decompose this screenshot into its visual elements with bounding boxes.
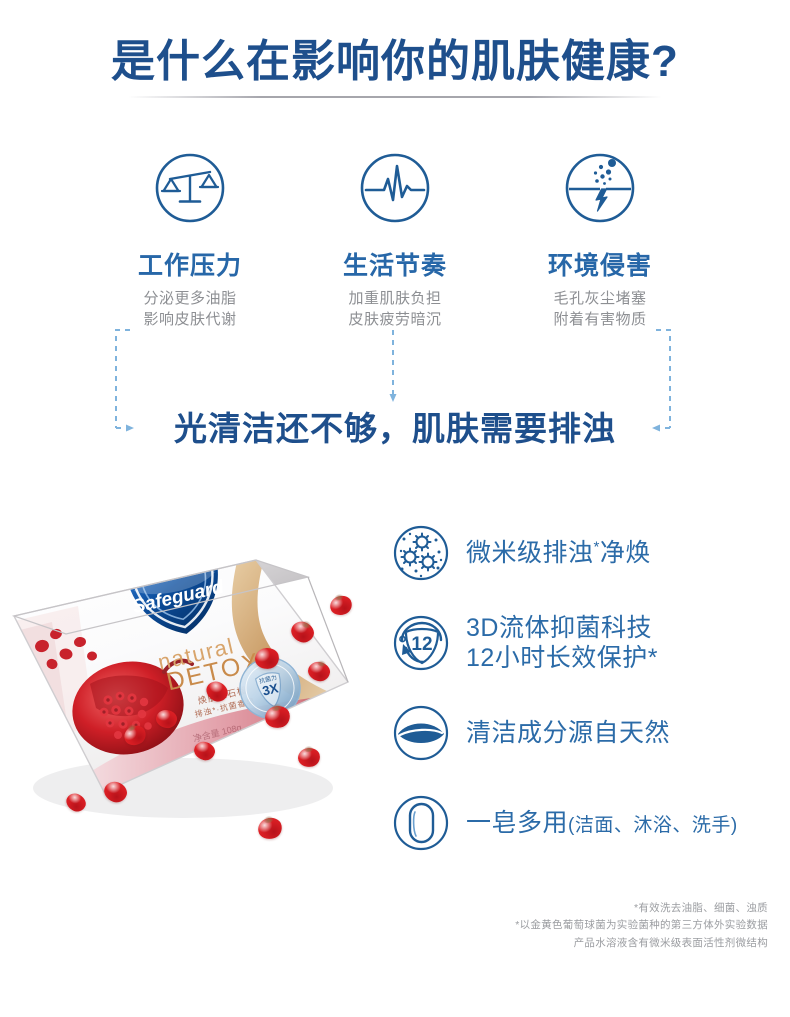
feature-text-main: 微米级排浊 — [466, 539, 594, 567]
cause-description: 毛孔灰尘堵塞 附着有害物质 — [505, 289, 695, 330]
svg-text:™: ™ — [210, 548, 218, 556]
feature-text-line2: 12小时长效保护* — [466, 643, 658, 674]
cause-desc-line: 影响皮肤代谢 — [95, 310, 285, 331]
promo-page: 是什么在影响你的肌肤健康? 工作压力 分泌更多油脂 影响皮肤代谢 — [0, 0, 790, 1017]
cause-desc-line: 皮肤疲劳暗沉 — [300, 310, 490, 331]
heartbeat-pulse-icon — [300, 148, 490, 228]
feature-label: 清洁成分源自天然 — [462, 718, 670, 749]
svg-text:12: 12 — [411, 634, 432, 655]
cause-column-environment: 环境侵害 毛孔灰尘堵塞 附着有害物质 — [505, 148, 695, 330]
balance-scale-icon — [95, 148, 285, 228]
cause-title: 工作压力 — [95, 246, 285, 282]
footnote-line: *有效洗去油脂、细菌、浊质 — [248, 900, 768, 917]
cause-title: 生活节奏 — [300, 246, 490, 282]
key-message-banner: 光清洁还不够，肌肤需要排浊 — [0, 402, 790, 450]
causes-section: 工作压力 分泌更多油脂 影响皮肤代谢 生活节奏 加重肌肤负担 皮肤疲劳暗沉 — [95, 148, 695, 330]
cause-description: 加重肌肤负担 皮肤疲劳暗沉 — [300, 289, 490, 330]
cause-desc-line: 分泌更多油脂 — [95, 289, 285, 310]
feature-text-main: 3D流体抑菌科技 — [466, 614, 652, 642]
feature-text-tail: 净焕 — [600, 539, 651, 567]
feature-label: 微米级排浊*净焕 — [462, 538, 651, 569]
features-list: 微米级排浊*净焕 12 3D流体抑菌科技12小时长效保护* — [392, 508, 784, 868]
soap-bar-icon — [392, 794, 462, 852]
page-title: 是什么在影响你的肌肤健康? — [0, 38, 790, 86]
footnotes: *有效洗去油脂、细菌、浊质 *以金黄色葡萄球菌为实验菌种的第三方体外实验数据 产… — [248, 900, 768, 952]
footnote-line: 产品水溶液含有微米级表面活性剂微结构 — [248, 935, 768, 952]
cause-desc-line: 加重肌肤负担 — [300, 289, 490, 310]
feature-text-main: 一皂多用 — [466, 809, 568, 837]
cause-description: 分泌更多油脂 影响皮肤代谢 — [95, 289, 285, 330]
shield-12-hours-icon: 12 — [392, 614, 462, 672]
feature-label: 3D流体抑菌科技12小时长效保护* — [462, 613, 658, 674]
feature-label: 一皂多用(洁面、沐浴、洗手) — [462, 808, 738, 839]
title-divider — [128, 96, 662, 98]
micro-particles-icon — [392, 524, 462, 582]
feature-item-natural-ingredients: 清洁成分源自天然 — [392, 688, 784, 778]
feature-item-3d-antibacterial: 12 3D流体抑菌科技12小时长效保护* — [392, 598, 784, 688]
cause-column-life-pace: 生活节奏 加重肌肤负担 皮肤疲劳暗沉 — [300, 148, 490, 330]
product-photo: Safeguard ™ natural DETOX 焕肤红石榴 排浊*·抗菌香皂 — [8, 530, 388, 910]
cause-desc-line: 附着有害物质 — [505, 310, 695, 331]
cause-title: 环境侵害 — [505, 246, 695, 282]
cause-desc-line: 毛孔灰尘堵塞 — [505, 289, 695, 310]
cause-column-work-stress: 工作压力 分泌更多油脂 影响皮肤代谢 — [95, 148, 285, 330]
pollution-skin-icon — [505, 148, 695, 228]
feature-item-micro-detox: 微米级排浊*净焕 — [392, 508, 784, 598]
product-box-illustration: Safeguard ™ natural DETOX 焕肤红石榴 排浊*·抗菌香皂 — [8, 530, 388, 910]
footnote-line: *以金黄色葡萄球菌为实验菌种的第三方体外实验数据 — [248, 917, 768, 934]
feature-text-main: 清洁成分源自天然 — [466, 719, 670, 747]
feature-item-multi-use: 一皂多用(洁面、沐浴、洗手) — [392, 778, 784, 868]
feature-text-tail: (洁面、沐浴、洗手) — [568, 815, 738, 836]
leaf-natural-icon — [392, 704, 462, 762]
